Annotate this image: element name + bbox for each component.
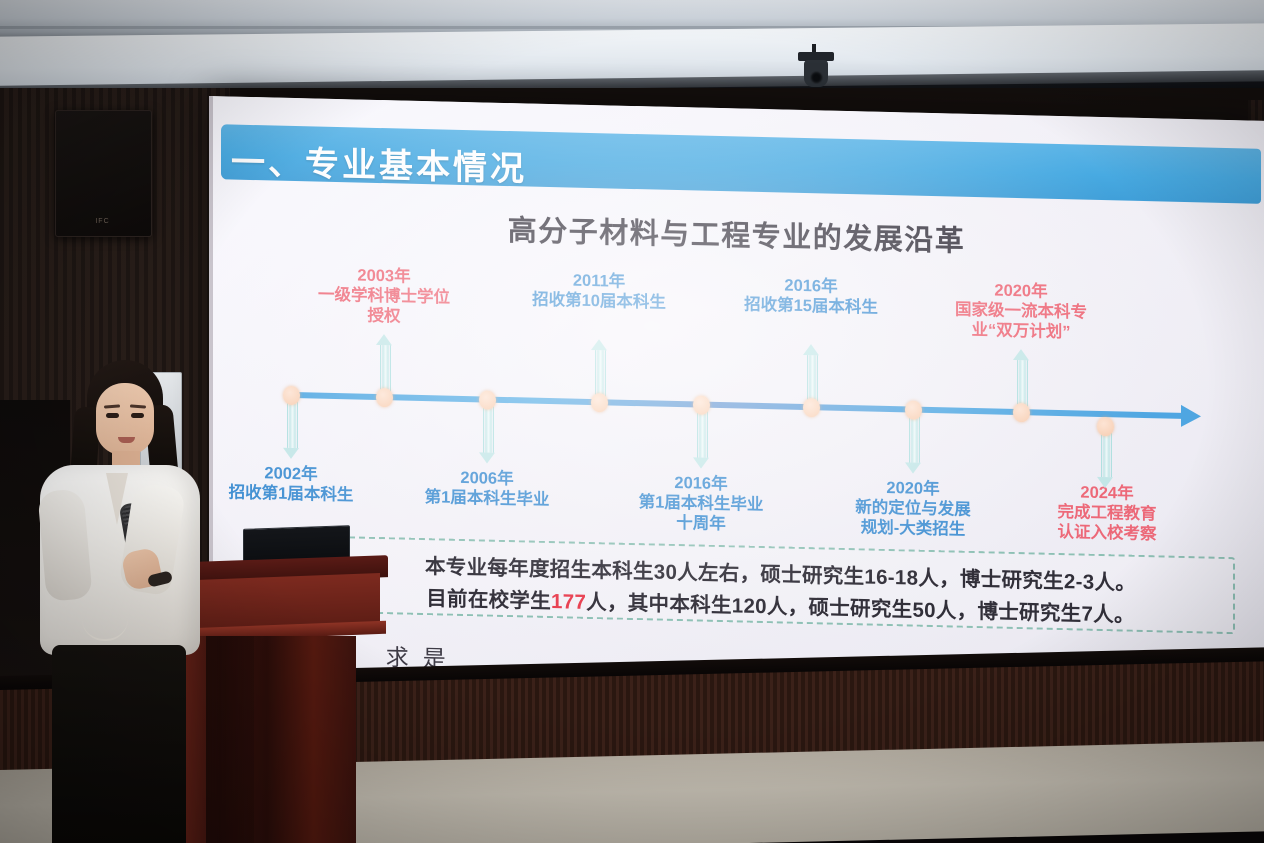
stats-line-2-suffix: 人，其中本科生120人，硕士研究生50人，博士研究生7人。 — [586, 591, 1135, 627]
timeline-stem-arrow-down-icon — [283, 448, 299, 459]
timeline-desc-line: 十周年 — [676, 514, 726, 533]
timeline-year: 2020年 — [921, 279, 1121, 304]
timeline-axis — [285, 392, 1185, 419]
timeline-year: 2003年 — [284, 264, 484, 289]
timeline-stem-down — [909, 412, 920, 462]
timeline-stem-up — [807, 355, 818, 403]
timeline-stem-arrow-up-icon — [591, 339, 607, 350]
stats-line-2-prefix: 目前在校学生 — [426, 587, 551, 613]
timeline-arrow-head-icon — [1181, 405, 1201, 427]
slide-title: 高分子材料与工程专业的发展沿革 — [209, 200, 1264, 267]
presenter — [30, 355, 230, 843]
timeline-year: 2011年 — [499, 269, 699, 294]
timeline-desc-line: 招收第10届本科生 — [532, 291, 666, 312]
timeline-desc-line: 授权 — [368, 307, 401, 326]
timeline-stem-down — [1101, 429, 1112, 477]
slide-section-label: 一、专业基本情况 — [231, 135, 527, 191]
screenshot-root: IFC 一、专业基本情况 高分子材料与工程专业的发展沿革 — [0, 0, 1264, 843]
timeline-stem-up — [595, 350, 606, 398]
timeline-year: 2020年 — [813, 476, 1013, 501]
timeline-stem-down — [483, 402, 494, 452]
timeline-stem-arrow-down-icon — [479, 452, 495, 463]
timeline-label-above: 2016年 招收第15届本科生 — [711, 274, 911, 319]
timeline-node — [1097, 417, 1114, 436]
stats-highlight-number: 177 — [551, 590, 586, 614]
timeline-stem-arrow-up-icon — [803, 344, 819, 355]
timeline-desc-line: 招收第1届本科生 — [229, 484, 354, 505]
timeline-desc-line: 一级学科博士学位 — [318, 286, 450, 307]
timeline-desc-line: 业“双万计划” — [972, 321, 1071, 341]
timeline-node — [905, 400, 922, 419]
timeline-node — [803, 398, 820, 417]
timeline-stem-arrow-down-icon — [1097, 477, 1113, 488]
timeline-desc-line: 招收第15届本科生 — [744, 296, 878, 317]
wall-speaker-label: IFC — [75, 218, 130, 228]
timeline-node — [376, 388, 393, 407]
timeline-stem-arrow-up-icon — [376, 334, 392, 345]
timeline-year: 2006年 — [387, 466, 587, 491]
timeline-label-below: 2020年 新的定位与发展 规划-大类招生 — [813, 476, 1013, 541]
presenter-eye — [131, 413, 144, 418]
presenter-eye — [106, 413, 119, 418]
timeline-stem-down — [287, 398, 298, 448]
timeline-desc-line: 完成工程教育 — [1058, 503, 1157, 523]
timeline-node — [591, 393, 608, 412]
timeline-node — [479, 390, 496, 409]
timeline-desc-line: 新的定位与发展 — [855, 498, 971, 519]
timeline-desc-line: 认证入校考察 — [1058, 523, 1157, 543]
timeline-label-above: 2011年 招收第10届本科生 — [499, 269, 699, 314]
timeline-label-below: 2024年 完成工程教育 认证入校考察 — [1007, 481, 1207, 546]
timeline-stem-arrow-up-icon — [1013, 349, 1029, 360]
timeline-label-above: 2003年 一级学科博士学位 授权 — [284, 264, 484, 329]
presenter-trousers — [52, 645, 186, 843]
timeline-desc-line: 第1届本科生毕业 — [639, 493, 764, 514]
timeline-node — [693, 395, 710, 414]
timeline-year: 2016年 — [711, 274, 911, 299]
stats-callout-box: 本专业每年度招生本科生30人左右，硕士研究生16-18人，博士研究生2-3人。 … — [326, 536, 1235, 634]
timeline-label-below: 2006年 第1届本科生毕业 — [387, 466, 587, 511]
timeline-node — [1013, 403, 1030, 422]
presenter-face — [96, 383, 154, 455]
timeline-stem-arrow-down-icon — [905, 462, 921, 473]
camera-lens-icon — [810, 71, 823, 84]
timeline-year: 2016年 — [601, 471, 801, 496]
timeline-label-below: 2002年 招收第1届本科生 — [209, 462, 391, 507]
timeline-desc-line: 第1届本科生毕业 — [425, 488, 550, 509]
timeline-stem-up — [1017, 360, 1028, 408]
timeline-desc-line: 国家级一流本科专 — [955, 301, 1087, 322]
timeline-stem-down — [697, 408, 708, 458]
timeline-stem-arrow-down-icon — [693, 457, 709, 468]
timeline-node — [283, 386, 300, 405]
timeline-stem-up — [380, 345, 391, 393]
timeline-label-above: 2020年 国家级一流本科专 业“双万计划” — [921, 279, 1121, 344]
timeline-desc-line: 规划-大类招生 — [861, 519, 966, 539]
timeline-label-below: 2016年 第1届本科生毕业 十周年 — [601, 471, 801, 536]
